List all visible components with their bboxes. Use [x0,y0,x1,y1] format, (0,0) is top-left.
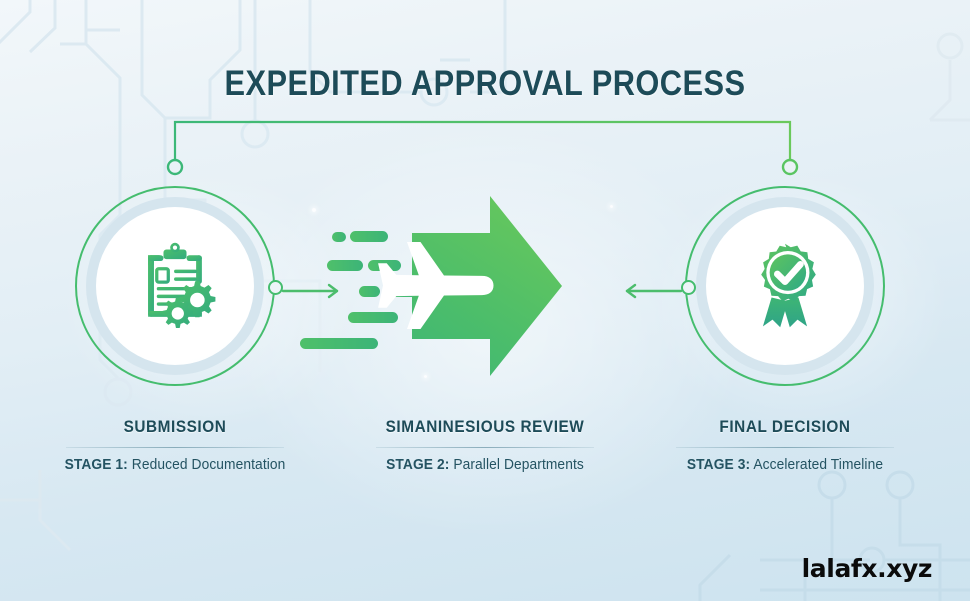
clipboard-gears-icon [125,236,225,336]
watermark: lalafx.xyz [802,554,932,583]
connector-node-left-ring [268,280,283,295]
award-check-icon [735,236,835,336]
caption-divider [676,447,894,448]
connector-node-right-ring [681,280,696,295]
stage-label: STAGE 2: [386,457,449,473]
stage-subtext: STAGE 2: Parallel Departments [343,457,628,473]
stage-heading: SUBMISSION [36,418,315,437]
stage-subtext: STAGE 1: Reduced Documentation [33,457,318,473]
stage-detail: Accelerated Timeline [750,457,883,473]
caption-submission: SUBMISSION STAGE 1: Reduced Documentatio… [25,418,325,473]
stage-detail: Reduced Documentation [128,457,286,473]
caption-simultaneous-review: SIMANINESIOUS REVIEW STAGE 2: Parallel D… [335,418,635,473]
caption-divider [376,447,594,448]
stage-heading: FINAL DECISION [646,418,925,437]
infographic-canvas: EXPEDITED APPROVAL PROCESS [0,0,970,601]
caption-final-decision: FINAL DECISION STAGE 3: Accelerated Time… [635,418,935,473]
stage-label: STAGE 3: [687,457,750,473]
stage-detail: Parallel Departments [449,457,583,473]
caption-divider [66,447,284,448]
stage-subtext: STAGE 3: Accelerated Timeline [643,457,928,473]
stage-label: STAGE 1: [65,457,128,473]
stage-heading: SIMANINESIOUS REVIEW [346,418,625,437]
